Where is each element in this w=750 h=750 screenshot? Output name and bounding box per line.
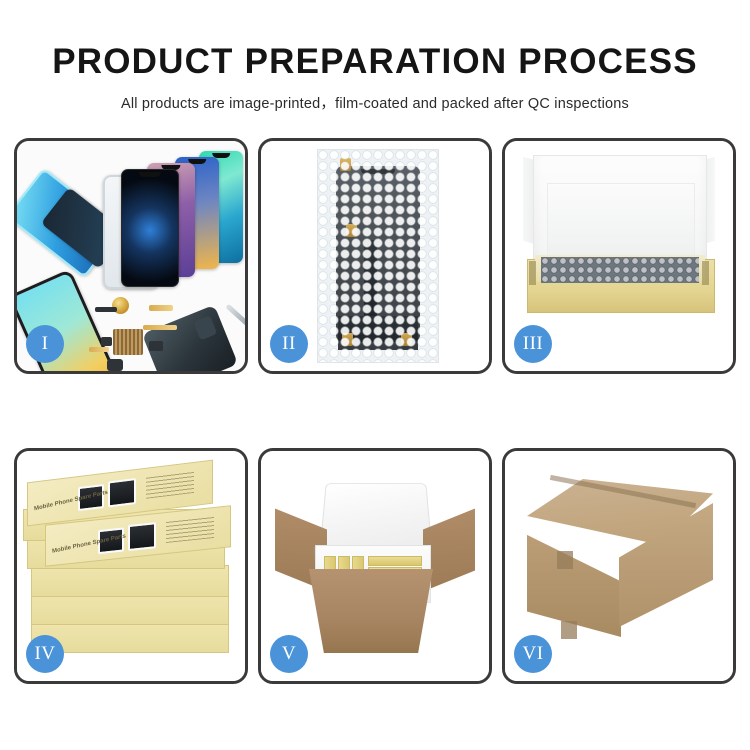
small-part-3 xyxy=(149,341,163,351)
notch-icon xyxy=(139,172,161,177)
step-5-badge: V xyxy=(270,635,308,673)
flex-cable-3 xyxy=(89,347,109,352)
bubble-wrapped-contents xyxy=(541,257,699,283)
tape-patch-upper xyxy=(557,551,573,569)
page-subtitle: All products are image-printed，film-coat… xyxy=(0,82,750,113)
box-corner-right xyxy=(702,261,709,285)
process-step-5[interactable]: V xyxy=(258,448,492,684)
flex-cable-1 xyxy=(149,305,173,311)
small-part-1 xyxy=(95,307,117,312)
bubble-wrap-bag xyxy=(317,149,439,363)
step-1-badge: I xyxy=(26,325,64,363)
foam-box-lid xyxy=(320,483,432,546)
step-3-badge: III xyxy=(514,325,552,363)
logic-board-part xyxy=(113,329,143,355)
small-part-2 xyxy=(107,359,123,371)
process-step-6[interactable]: VI xyxy=(502,448,736,684)
stacked-box-4 xyxy=(31,593,229,625)
carton-body xyxy=(309,569,433,653)
product-preparation-infographic: PRODUCT PREPARATION PROCESS All products… xyxy=(0,0,750,750)
lid-window-4 xyxy=(128,522,156,551)
step-4-badge: IV xyxy=(26,635,64,673)
page-title: PRODUCT PREPARATION PROCESS xyxy=(0,0,750,82)
header: PRODUCT PREPARATION PROCESS All products… xyxy=(0,0,750,113)
step-2-badge: II xyxy=(270,325,308,363)
bubble-texture xyxy=(318,150,438,362)
box-corner-left xyxy=(529,261,536,285)
flex-cable-2 xyxy=(143,325,177,330)
tape-patch-lower xyxy=(561,621,577,639)
small-part-5 xyxy=(101,337,112,346)
lid-text-lines-lower xyxy=(166,516,214,543)
step-6-badge: VI xyxy=(514,635,552,673)
process-step-4[interactable]: Mobile Phone Spare Parts Mobile Phone Sp… xyxy=(14,448,248,684)
phone-black-burst-screen xyxy=(121,169,179,287)
process-step-2[interactable]: II xyxy=(258,138,492,374)
foam-sheet xyxy=(547,183,695,263)
process-step-1[interactable]: I xyxy=(14,138,248,374)
lid-window-2 xyxy=(108,478,136,507)
packed-box-h1 xyxy=(368,556,422,566)
process-step-grid: I II xyxy=(14,138,736,684)
stacked-box-3 xyxy=(31,565,229,597)
process-step-3[interactable]: III xyxy=(502,138,736,374)
carton-face-left xyxy=(527,521,621,637)
lid-text-lines-top xyxy=(146,471,194,499)
